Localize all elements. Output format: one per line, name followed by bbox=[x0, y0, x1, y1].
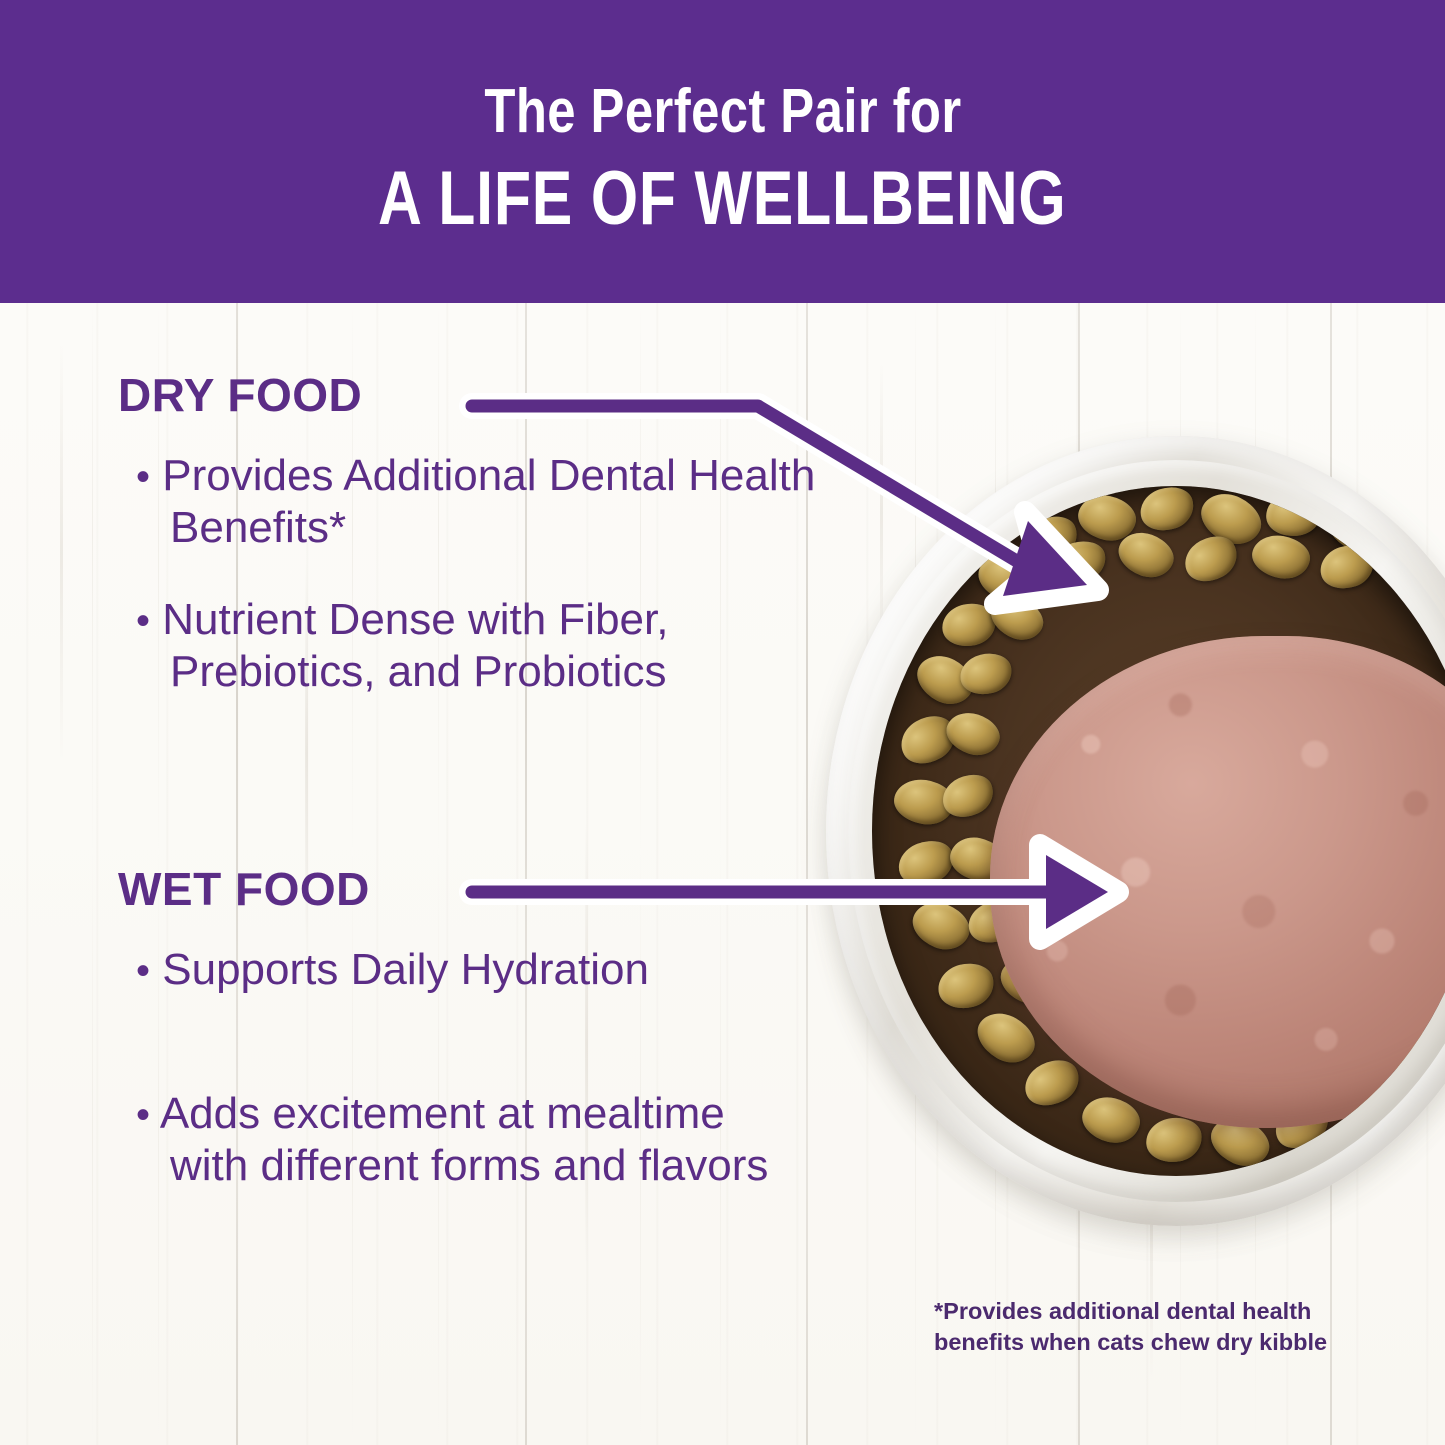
bullet-dot-icon: • bbox=[136, 455, 150, 499]
header-title-line-2: A LIFE OF WELLBEING bbox=[378, 161, 1066, 237]
wet-food-pate bbox=[990, 636, 1445, 1128]
bullet-dot-icon: • bbox=[136, 599, 150, 643]
bullet-dry-1: • Provides Additional Dental Health Bene… bbox=[136, 450, 830, 554]
section-heading-dry-food: DRY FOOD bbox=[118, 372, 362, 418]
bullet-wet-2: • Adds excitement at mealtime with diffe… bbox=[136, 1088, 790, 1192]
bullet-dot-icon: • bbox=[136, 1093, 150, 1137]
pet-food-bowl-photo bbox=[826, 436, 1445, 1256]
header-banner: The Perfect Pair for A LIFE OF WELLBEING bbox=[0, 0, 1445, 303]
bullet-dry-2: • Nutrient Dense with Fiber, Prebiotics,… bbox=[136, 594, 830, 698]
bullet-wet-1-text: Supports Daily Hydration bbox=[162, 945, 649, 994]
bullet-dry-2-text: Nutrient Dense with Fiber, Prebiotics, a… bbox=[162, 595, 668, 696]
infographic-canvas: The Perfect Pair for A LIFE OF WELLBEING… bbox=[0, 0, 1445, 1445]
footnote-text: *Provides additional dental health benef… bbox=[934, 1296, 1364, 1358]
bullet-wet-2-text: Adds excitement at mealtime with differe… bbox=[160, 1089, 769, 1190]
bullet-dot-icon: • bbox=[136, 949, 150, 993]
section-heading-wet-food: WET FOOD bbox=[118, 866, 370, 912]
bullet-dry-1-text: Provides Additional Dental Health Benefi… bbox=[162, 451, 815, 552]
bowl-interior bbox=[872, 486, 1445, 1176]
bullet-wet-1: • Supports Daily Hydration bbox=[136, 944, 790, 996]
header-title-line-1: The Perfect Pair for bbox=[484, 81, 961, 143]
